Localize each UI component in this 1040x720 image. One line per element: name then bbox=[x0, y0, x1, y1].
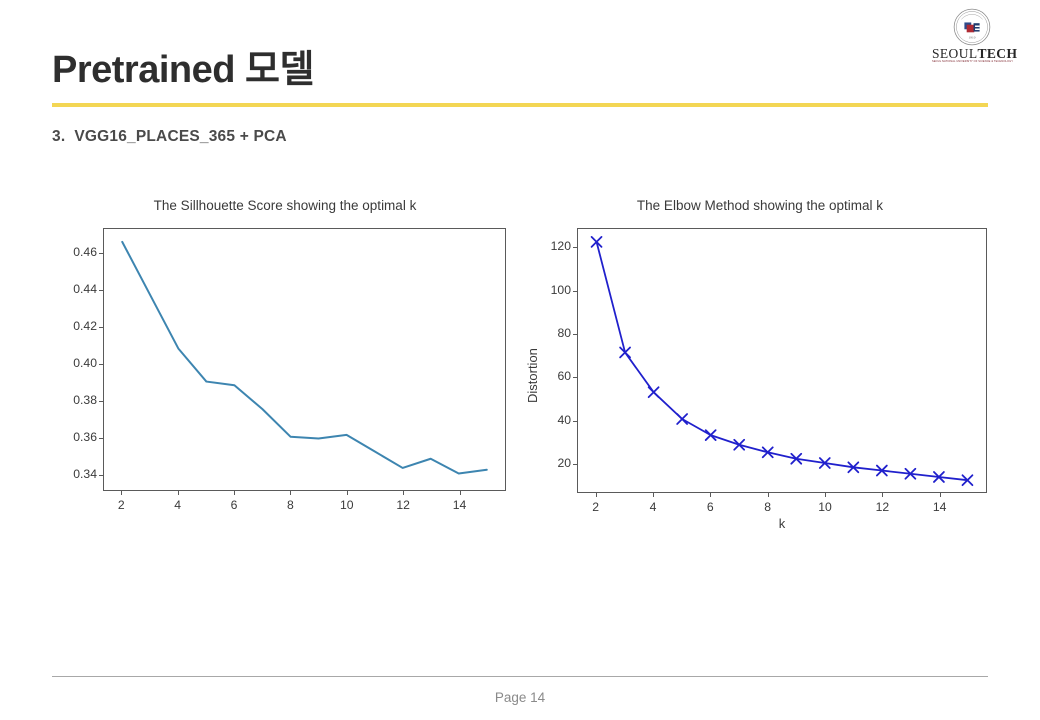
x-tick-label: 2 bbox=[576, 500, 616, 514]
x-tick-mark bbox=[940, 493, 941, 497]
x-tick-mark bbox=[178, 491, 179, 495]
y-tick-mark bbox=[573, 464, 577, 465]
elbow-chart-title: The Elbow Method showing the optimal k bbox=[525, 198, 995, 213]
y-tick-label: 40 bbox=[531, 413, 571, 427]
y-tick-label: 120 bbox=[531, 239, 571, 253]
x-tick-label: 14 bbox=[920, 500, 960, 514]
logo-wordmark-bold: TECH bbox=[978, 46, 1018, 61]
x-tick-mark bbox=[234, 491, 235, 495]
y-tick-label: 0.40 bbox=[57, 356, 97, 370]
elbow-line-series bbox=[578, 229, 986, 492]
x-tick-label: 4 bbox=[633, 500, 673, 514]
y-tick-mark bbox=[99, 327, 103, 328]
page-title: Pretrained 모델 bbox=[52, 47, 314, 93]
title-underline-rule bbox=[52, 103, 988, 107]
x-tick-mark bbox=[710, 493, 711, 497]
x-tick-label: 10 bbox=[327, 498, 367, 512]
elbow-x-axis-label: k bbox=[577, 516, 987, 531]
y-tick-mark bbox=[99, 475, 103, 476]
x-tick-mark bbox=[882, 493, 883, 497]
x-tick-label: 8 bbox=[270, 498, 310, 512]
y-tick-mark bbox=[99, 290, 103, 291]
silhouette-score-figure: The Sillhouette Score showing the optima… bbox=[55, 198, 515, 528]
silhouette-chart-title: The Sillhouette Score showing the optima… bbox=[55, 198, 515, 213]
y-tick-label: 80 bbox=[531, 326, 571, 340]
logo-wordmark-light: SEOUL bbox=[932, 46, 978, 61]
seoultech-logo: 1910 SEOULTECH SEOUL NATIONAL UNIVERSITY… bbox=[932, 8, 1012, 66]
y-tick-label: 100 bbox=[531, 283, 571, 297]
subtitle-number: 3. bbox=[52, 128, 65, 145]
y-tick-label: 0.36 bbox=[57, 430, 97, 444]
x-tick-mark bbox=[403, 491, 404, 495]
x-tick-label: 10 bbox=[805, 500, 845, 514]
x-tick-label: 6 bbox=[690, 500, 730, 514]
y-tick-label: 0.38 bbox=[57, 393, 97, 407]
y-tick-mark bbox=[99, 364, 103, 365]
y-tick-label: 0.42 bbox=[57, 319, 97, 333]
elbow-method-figure: The Elbow Method showing the optimal k 2… bbox=[515, 198, 1005, 543]
y-tick-mark bbox=[573, 291, 577, 292]
y-tick-mark bbox=[99, 401, 103, 402]
y-tick-mark bbox=[573, 247, 577, 248]
x-tick-mark bbox=[825, 493, 826, 497]
y-tick-label: 0.34 bbox=[57, 467, 97, 481]
logo-wordmark: SEOULTECH bbox=[932, 47, 1012, 60]
x-tick-mark bbox=[653, 493, 654, 497]
x-tick-label: 6 bbox=[214, 498, 254, 512]
y-tick-label: 0.44 bbox=[57, 282, 97, 296]
x-tick-label: 2 bbox=[101, 498, 141, 512]
x-tick-mark bbox=[290, 491, 291, 495]
footer-rule bbox=[52, 676, 988, 677]
y-tick-label: 0.46 bbox=[57, 245, 97, 259]
y-tick-mark bbox=[573, 377, 577, 378]
y-tick-mark bbox=[99, 253, 103, 254]
y-tick-mark bbox=[573, 334, 577, 335]
y-tick-mark bbox=[99, 438, 103, 439]
silhouette-plot-area bbox=[103, 228, 506, 491]
x-tick-label: 14 bbox=[440, 498, 480, 512]
y-tick-label: 20 bbox=[531, 456, 571, 470]
x-tick-mark bbox=[768, 493, 769, 497]
x-tick-mark bbox=[596, 493, 597, 497]
seoultech-seal-icon: 1910 bbox=[953, 8, 991, 46]
x-tick-label: 12 bbox=[383, 498, 423, 512]
x-tick-mark bbox=[347, 491, 348, 495]
elbow-y-axis-label: Distortion bbox=[525, 348, 540, 403]
x-tick-label: 8 bbox=[748, 500, 788, 514]
section-subtitle: 3.VGG16_PLACES_365 + PCA bbox=[52, 128, 287, 146]
logo-tagline: SEOUL NATIONAL UNIVERSITY OF SCIENCE & T… bbox=[932, 60, 1012, 64]
elbow-plot-area bbox=[577, 228, 987, 493]
x-tick-mark bbox=[121, 491, 122, 495]
svg-text:1910: 1910 bbox=[969, 35, 976, 39]
y-tick-mark bbox=[573, 421, 577, 422]
page-number: Page 14 bbox=[0, 690, 1040, 705]
x-tick-mark bbox=[460, 491, 461, 495]
x-tick-label: 12 bbox=[862, 500, 902, 514]
subtitle-text: VGG16_PLACES_365 + PCA bbox=[74, 128, 286, 145]
silhouette-line-series bbox=[104, 229, 505, 490]
x-tick-label: 4 bbox=[158, 498, 198, 512]
